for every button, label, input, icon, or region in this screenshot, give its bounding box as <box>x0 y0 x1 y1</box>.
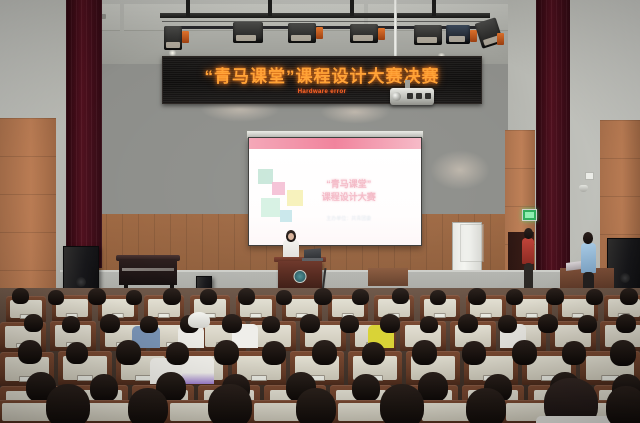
audience-head <box>562 341 586 365</box>
stage-light-3 <box>288 23 316 43</box>
audience-head <box>276 290 292 305</box>
seat-number-plate <box>135 375 151 381</box>
audience-head <box>24 314 43 332</box>
audience-head <box>300 314 320 333</box>
audience-head <box>420 316 438 333</box>
slide-title-line2: 课程设计大赛 <box>322 191 376 204</box>
stage-light-6-gel <box>470 30 477 42</box>
tech-operator-torso <box>581 243 596 273</box>
stage-light-7-gel <box>497 33 504 45</box>
audience-head <box>620 288 638 305</box>
doorway-person-head <box>524 228 533 239</box>
auditorium-photo: “青马课堂”课程设计大赛决赛 Hardware error “青马课堂” 课程设… <box>0 0 640 423</box>
audience-head-foreground <box>46 384 90 423</box>
slide-title-line1: “青马课堂” <box>322 178 376 191</box>
audience-head <box>222 314 242 333</box>
audience-head-foreground <box>208 384 252 423</box>
projector-vent <box>407 93 413 99</box>
truss-drop-3 <box>350 0 354 16</box>
audience-head <box>238 288 255 305</box>
truss-drop-2 <box>268 0 272 16</box>
light-lens <box>166 42 180 48</box>
audience-area <box>0 288 640 423</box>
audience-head <box>66 342 88 364</box>
light-lens <box>236 35 256 41</box>
audience-head <box>126 290 142 305</box>
stage-light-3-gel <box>316 27 323 39</box>
projector-lens-icon <box>392 92 401 101</box>
right-utility-panel <box>460 224 484 262</box>
audience-head <box>392 288 409 304</box>
audience-head-foreground <box>128 388 168 423</box>
stage-light-5 <box>414 25 442 45</box>
audience-head-foreground <box>380 384 424 423</box>
slide-subtitle: 主办单位：共青团委 <box>326 216 371 223</box>
truss-drop-4 <box>432 0 436 16</box>
audience-head <box>18 340 42 364</box>
seat-number-plate <box>480 313 492 318</box>
audience-head <box>340 315 359 333</box>
stage-light-6 <box>446 25 470 44</box>
light-lens <box>291 35 311 41</box>
audience-head <box>48 290 64 305</box>
audience-head <box>412 340 437 365</box>
audience-head <box>616 314 636 333</box>
audience-head <box>352 374 380 402</box>
slide-decor-square <box>258 169 273 184</box>
seat-number-plate <box>77 375 93 381</box>
led-banner-sub-text: Hardware error <box>298 89 347 95</box>
audience-head <box>262 316 280 333</box>
slide-top-band <box>249 138 421 149</box>
audience-head <box>458 314 478 333</box>
audience-head <box>362 342 385 365</box>
seat-number-plate <box>251 375 267 381</box>
audience-head <box>166 342 189 365</box>
front-table <box>368 268 408 286</box>
tech-operator-head <box>583 232 593 244</box>
audience-head-foreground <box>466 388 506 423</box>
presenter-face <box>288 233 294 240</box>
left-wall-wood-panel <box>0 118 56 300</box>
audience-head-foreground <box>296 388 336 423</box>
audience-head <box>546 288 564 305</box>
slide-decor-square <box>261 198 280 217</box>
audience-head <box>430 290 446 305</box>
slide-body: “青马课堂” 课程设计大赛 主办单位：共青团委 <box>249 149 421 245</box>
piano-keys <box>122 268 174 271</box>
audience-head <box>214 340 239 365</box>
doorway-person-legs <box>524 263 533 291</box>
light-lens <box>449 36 465 42</box>
audience-head <box>538 314 558 333</box>
audience-head <box>140 316 158 333</box>
speaker-cone-icon <box>76 277 86 287</box>
audience-head <box>578 315 597 333</box>
audience-head <box>200 289 217 305</box>
audience-head <box>586 289 603 305</box>
exit-sign <box>522 209 537 221</box>
audience-head <box>498 315 517 333</box>
projector-vent <box>416 93 422 99</box>
audience-head <box>312 340 337 365</box>
audience-shirt-foreground <box>536 416 612 423</box>
wall-outlet <box>585 172 594 180</box>
audience-head-foreground <box>606 386 640 423</box>
projector <box>390 88 434 105</box>
projection-screen: “青马课堂” 课程设计大赛 主办单位：共青团委 <box>248 137 422 246</box>
slide-decor-square <box>280 210 292 222</box>
truss-drop-1 <box>186 0 190 18</box>
stage-light-1-gel <box>182 31 189 43</box>
audience-head-cap <box>188 312 210 328</box>
audience-head <box>462 341 486 365</box>
lighting-truss <box>160 13 490 18</box>
stage-light-2 <box>233 22 263 43</box>
stage-light-1 <box>164 26 182 50</box>
audience-head <box>468 288 486 305</box>
piano-body <box>119 259 177 285</box>
stage-light-4-gel <box>378 28 385 40</box>
slide-decor-square <box>287 190 303 206</box>
audience-head <box>12 288 29 304</box>
audience-head <box>314 288 332 305</box>
audience-head <box>116 340 141 365</box>
right-curtain <box>536 0 570 272</box>
led-banner: “青马课堂”课程设计大赛决赛 Hardware error <box>162 56 482 104</box>
podium[interactable] <box>278 261 322 289</box>
podium-laptop-base <box>302 258 323 261</box>
slide-decor-square <box>272 182 285 195</box>
audience-head <box>352 289 369 305</box>
audience-head <box>88 288 106 305</box>
stage-light-4 <box>350 24 378 43</box>
seat-number-plate <box>526 313 538 318</box>
light-lens <box>417 37 437 43</box>
seat-number-plate <box>250 313 262 318</box>
audience-head <box>90 374 118 402</box>
podium-emblem-icon <box>294 270 307 283</box>
doorway-person-torso <box>522 238 534 264</box>
exit-sign-glow <box>525 212 534 218</box>
light-lens <box>353 35 373 41</box>
audience-head <box>506 289 523 305</box>
audience-head <box>380 314 400 333</box>
slide-title: “青马课堂” 课程设计大赛 <box>322 178 376 204</box>
projector-vent <box>425 93 431 99</box>
audience-head <box>62 316 80 333</box>
audience-head <box>512 340 537 365</box>
audience-head <box>163 288 181 305</box>
seat-number-plate <box>158 313 170 318</box>
audience-head <box>610 340 636 366</box>
audience-head <box>100 314 120 333</box>
speaker-cone-icon <box>620 273 630 283</box>
seat-number-plate <box>434 313 446 318</box>
left-curtain <box>66 0 102 268</box>
audience-head <box>262 341 286 365</box>
